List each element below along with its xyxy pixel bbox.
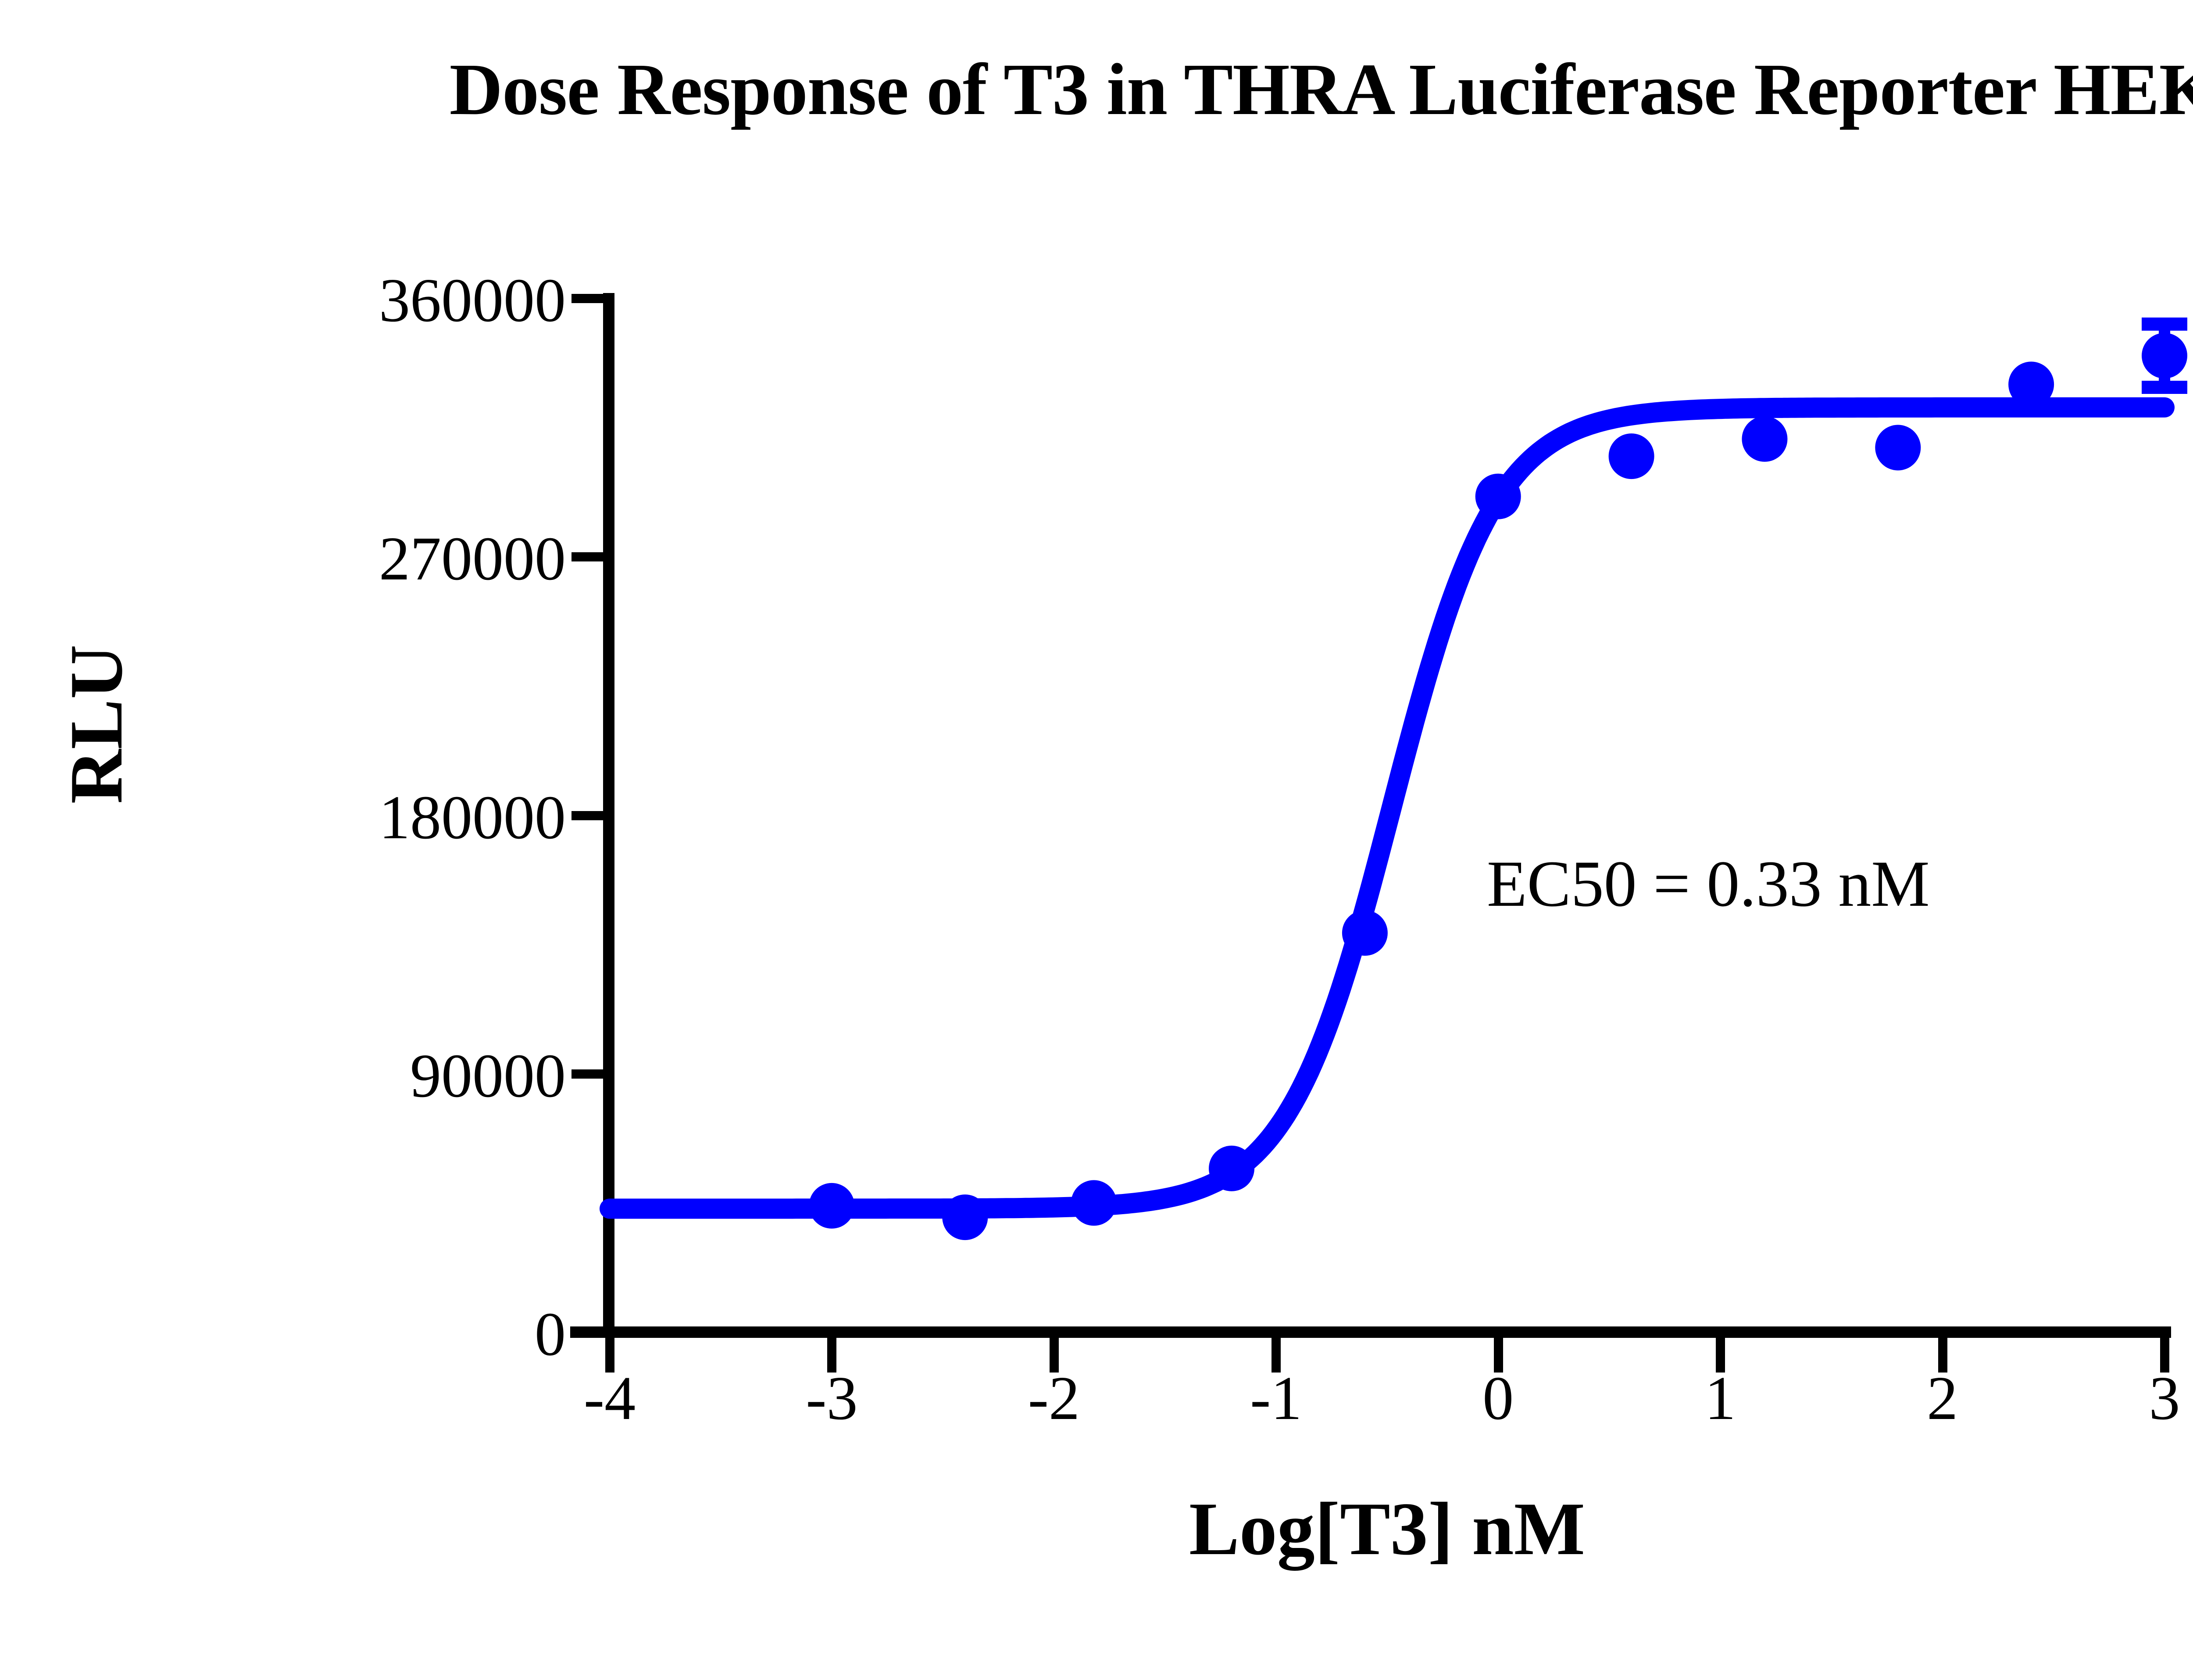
data-point bbox=[1209, 1146, 1254, 1191]
data-point bbox=[1475, 474, 1521, 519]
data-point bbox=[2142, 333, 2187, 379]
ec50-annotation: EC50 = 0.33 nM bbox=[1487, 851, 1930, 917]
y-tick-label: 180000 bbox=[83, 781, 566, 853]
x-axis-title: Log[T3] nM bbox=[610, 1491, 2164, 1567]
x-tick-label: 3 bbox=[2099, 1362, 2193, 1434]
x-axis-line bbox=[570, 1326, 2171, 1338]
data-point bbox=[1342, 910, 1388, 956]
x-tick-label: 0 bbox=[1432, 1362, 1564, 1434]
y-tick-label: 360000 bbox=[83, 264, 566, 336]
data-point bbox=[1609, 433, 1654, 479]
data-point bbox=[1742, 416, 1787, 462]
y-tick-mark bbox=[571, 1328, 603, 1337]
x-tick-label: 2 bbox=[1877, 1362, 2008, 1434]
data-point bbox=[809, 1183, 854, 1229]
x-tick-label: -2 bbox=[988, 1362, 1120, 1434]
y-axis-line bbox=[603, 293, 614, 1338]
fit-curve bbox=[610, 407, 2164, 1209]
data-point bbox=[1071, 1180, 1117, 1226]
y-tick-label: 270000 bbox=[83, 522, 566, 594]
data-point bbox=[1875, 425, 1921, 471]
y-tick-mark bbox=[571, 811, 603, 820]
y-tick-label: 0 bbox=[83, 1298, 566, 1370]
y-tick-mark bbox=[571, 1069, 603, 1079]
y-tick-mark bbox=[571, 552, 603, 561]
y-tick-mark bbox=[571, 294, 603, 303]
x-tick-label: 1 bbox=[1654, 1362, 1786, 1434]
data-markers bbox=[809, 333, 2187, 1240]
x-tick-label: -4 bbox=[544, 1362, 675, 1434]
error-bars bbox=[2142, 324, 2187, 387]
chart-canvas: Dose Response of T3 in THRA Luciferase R… bbox=[0, 0, 2193, 1680]
y-tick-label: 90000 bbox=[83, 1040, 566, 1112]
data-point bbox=[2008, 361, 2054, 407]
x-tick-label: -3 bbox=[766, 1362, 897, 1434]
page-title: Dose Response of T3 in THRA Luciferase R… bbox=[0, 53, 2193, 126]
y-axis-title: RLU bbox=[59, 571, 134, 878]
x-tick-label: -1 bbox=[1210, 1362, 1342, 1434]
data-point bbox=[942, 1194, 988, 1240]
